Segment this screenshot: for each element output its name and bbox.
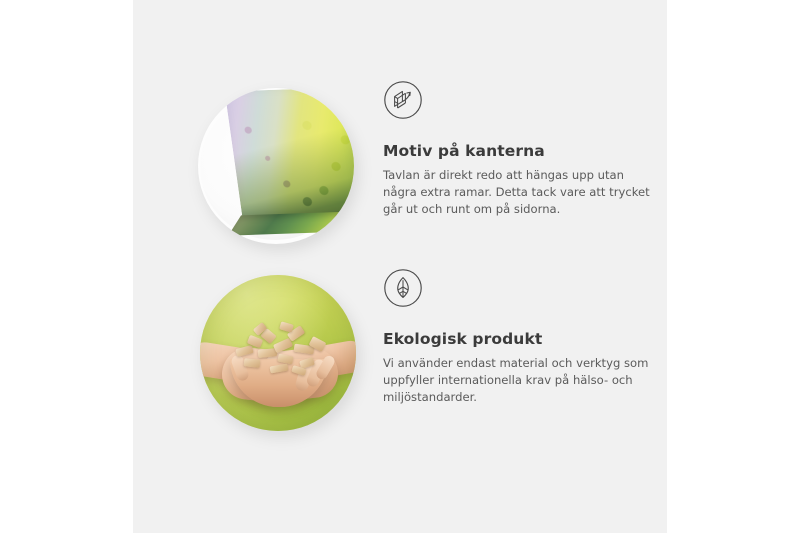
feature-title: Ekologisk produkt [383,330,655,349]
canvas-wrapped-edge-icon [383,80,423,120]
content-panel: Motiv på kanterna Tavlan är direkt redo … [133,0,667,533]
feature-text-motiv-pa-kanterna: Motiv på kanterna Tavlan är direkt redo … [383,142,655,218]
leaf-icon [383,268,423,308]
feature-text-ekologisk-produkt: Ekologisk produkt Vi använder endast mat… [383,330,655,406]
product-feature-infographic: Motiv på kanterna Tavlan är direkt redo … [0,0,800,533]
feature-title: Motiv på kanterna [383,142,655,161]
wood-chips-pile [232,321,328,381]
canvas-side-edge [228,212,342,236]
wood-chip [279,321,294,332]
feature-block-ekologisk-produkt: Ekologisk produkt Vi använder endast mat… [133,268,667,448]
feature-description: Tavlan är direkt redo att hängas upp uta… [383,167,655,218]
canvas-print-corner-photo [198,88,354,244]
wood-chip [235,345,253,357]
wood-chip [270,363,289,373]
wood-chip [244,358,261,368]
hands-holding-wood-chips-photo [200,275,356,431]
canvas-paint-texture [225,88,354,222]
canvas-print-corner [225,88,354,222]
feature-block-motiv-pa-kanterna: Motiv på kanterna Tavlan är direkt redo … [133,80,667,260]
feature-description: Vi använder endast material och verktyg … [383,355,655,406]
canvas-front-face [225,88,354,222]
